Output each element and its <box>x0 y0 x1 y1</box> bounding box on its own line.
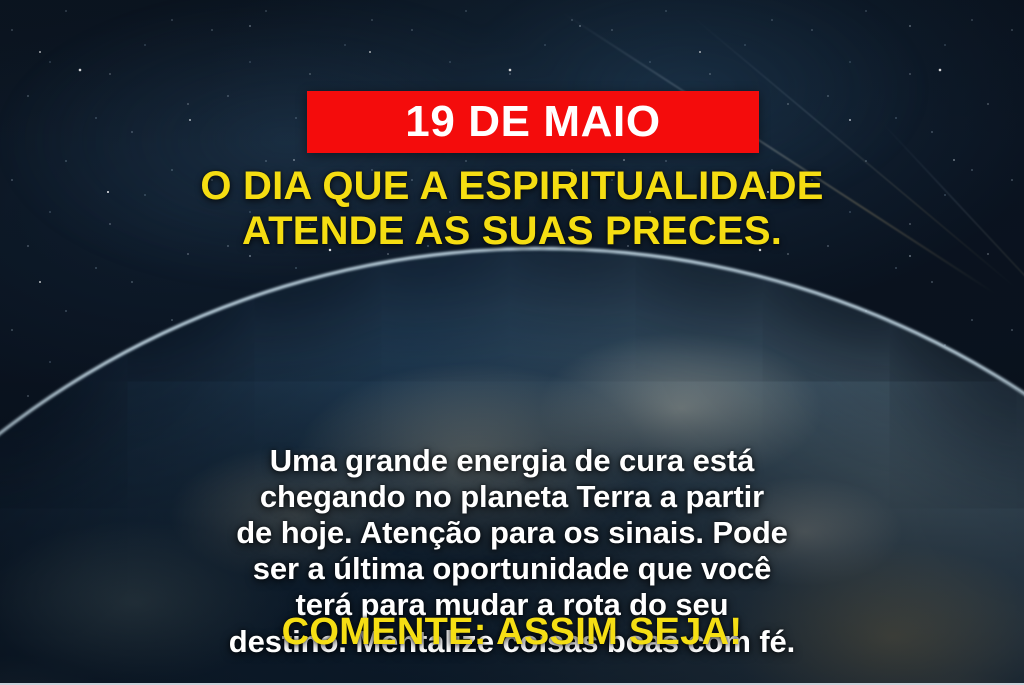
body-line-3: de hoje. Atenção para os sinais. Pode <box>60 515 964 551</box>
poster-content: 19 DE MAIO O DIA QUE A ESPIRITUALIDADE A… <box>0 0 1024 683</box>
headline-line-2: ATENDE AS SUAS PRECES. <box>56 209 968 254</box>
body-line-2: chegando no planeta Terra a partir <box>60 479 964 515</box>
headline: O DIA QUE A ESPIRITUALIDADE ATENDE AS SU… <box>0 164 1024 254</box>
headline-line-1: O DIA QUE A ESPIRITUALIDADE <box>56 164 968 209</box>
poster-image: 19 DE MAIO O DIA QUE A ESPIRITUALIDADE A… <box>0 0 1024 685</box>
call-to-action-text: COMENTE: ASSIM SEJA! <box>0 612 1024 654</box>
body-line-1: Uma grande energia de cura está <box>60 443 964 479</box>
date-banner: 19 DE MAIO <box>307 91 759 153</box>
date-banner-label: 19 DE MAIO <box>405 100 660 144</box>
body-line-4: ser a última oportunidade que você <box>60 551 964 587</box>
